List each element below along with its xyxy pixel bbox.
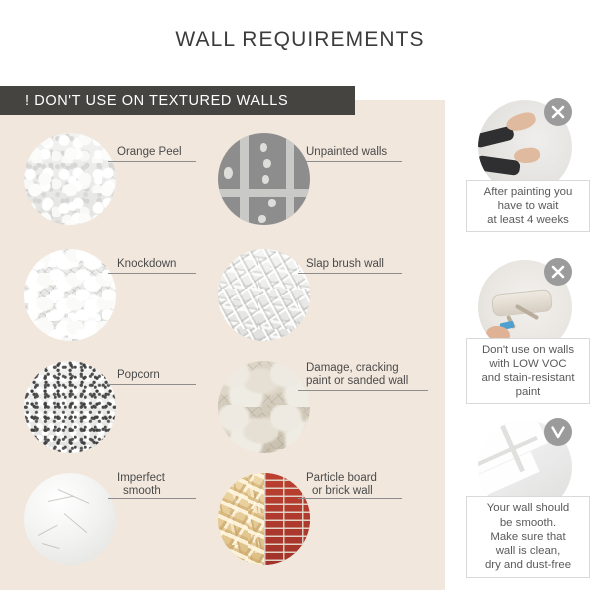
poster-root: WALL REQUIREMENTS ! DON'T USE ON TEXTURE… [0, 0, 600, 600]
texture-swatch-imperfect-smooth [24, 473, 116, 565]
tip-line: be smooth. [500, 516, 556, 530]
texture-underline-orange-peel [108, 161, 196, 162]
tip-line: Make sure that [490, 530, 565, 544]
texture-swatch-orange-peel [24, 133, 116, 225]
tip-line: wall is clean, [496, 544, 561, 558]
texture-swatch-knockdown [24, 249, 116, 341]
warning-banner: ! DON'T USE ON TEXTURED WALLS [0, 86, 355, 115]
texture-label-damage-line1: Damage, cracking [306, 362, 399, 375]
tip-line: dry and dust-free [485, 558, 571, 572]
texture-label-particle-line1: Particle board [306, 472, 377, 485]
brick-wall-half [264, 473, 310, 565]
tip-text-box-low-voc: Don't use on walls with LOW VOC and stai… [466, 338, 590, 404]
texture-label-particle-line2: or brick wall [312, 485, 373, 498]
tip-text-box-smooth-wall: Your wall should be smooth. Make sure th… [466, 496, 590, 578]
texture-swatch-damage-cracking-paint [218, 361, 310, 453]
texture-underline-particle-board-brick [298, 498, 402, 499]
texture-label-popcorn: Popcorn [117, 369, 160, 382]
unpainted-wall-art [218, 133, 310, 225]
cross-icon [544, 258, 572, 286]
texture-label-unpainted-walls: Unpainted walls [306, 146, 387, 159]
texture-swatch-popcorn [24, 361, 116, 453]
texture-swatch-unpainted-walls [218, 133, 310, 225]
texture-label-slap-brush-wall: Slap brush wall [306, 258, 384, 271]
page-title: WALL REQUIREMENTS [0, 28, 600, 52]
texture-label-orange-peel: Orange Peel [117, 146, 182, 159]
texture-underline-popcorn [108, 384, 196, 385]
tip-line: have to wait [498, 199, 559, 213]
tip-text-box-wait-4-weeks: After painting you have to wait at least… [466, 180, 590, 232]
tip-line: Don't use on walls [482, 343, 574, 357]
texture-swatch-particle-board-brick [218, 473, 310, 565]
tip-line: at least 4 weeks [487, 213, 569, 227]
texture-label-damage-line2: paint or sanded wall [306, 375, 408, 388]
texture-label-imperfect-line1: Imperfect [117, 472, 165, 485]
texture-label-imperfect-line2: smooth [123, 485, 161, 498]
tip-line: After painting you [484, 185, 573, 199]
particle-board-half [218, 473, 264, 565]
texture-label-knockdown: Knockdown [117, 258, 176, 271]
tip-line: paint [516, 385, 541, 399]
texture-swatch-slap-brush-wall [218, 249, 310, 341]
warning-banner-label: ! DON'T USE ON TEXTURED WALLS [0, 93, 288, 109]
texture-underline-slap-brush-wall [298, 273, 402, 274]
tip-line: with LOW VOC [489, 357, 566, 371]
tip-line: Your wall should [487, 501, 570, 515]
texture-underline-knockdown [108, 273, 196, 274]
tip-line: and stain-resistant [481, 371, 574, 385]
cross-icon [544, 98, 572, 126]
check-icon [544, 418, 572, 446]
imperfect-smooth-cracks [24, 473, 116, 565]
texture-underline-unpainted-walls [298, 161, 402, 162]
texture-underline-damage-cracking-paint [298, 390, 428, 391]
texture-underline-imperfect-smooth [108, 498, 196, 499]
